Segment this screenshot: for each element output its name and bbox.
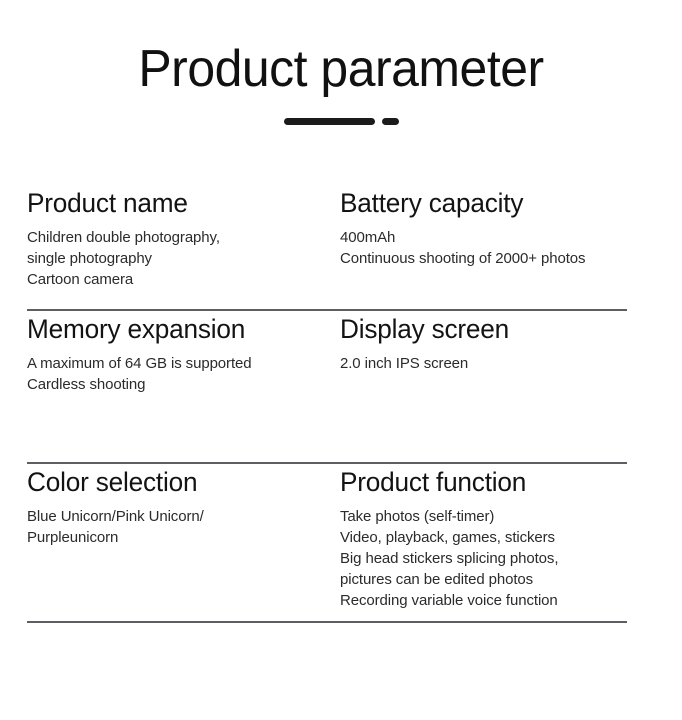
spec-row: Color selection Blue Unicorn/Pink Unicor… xyxy=(0,465,682,661)
spec-value-line: Purpleunicorn xyxy=(27,527,340,548)
spec-label: Display screen xyxy=(340,312,631,346)
spec-value-list: Blue Unicorn/Pink Unicorn/ Purpleunicorn xyxy=(27,506,340,548)
spec-table: Product name Children double photography… xyxy=(0,186,682,661)
spec-value-line: Children double photography, xyxy=(27,227,340,248)
row-divider xyxy=(27,462,627,464)
spec-value-list: Take photos (self-timer) Video, playback… xyxy=(340,506,640,611)
spec-label: Product function xyxy=(340,465,631,499)
page-title: Product parameter xyxy=(14,38,669,100)
spec-row: Product name Children double photography… xyxy=(0,186,682,312)
page-header: Product parameter xyxy=(0,38,682,125)
spec-value-line: pictures can be edited photos xyxy=(340,569,640,590)
spec-cell-product-function: Product function Take photos (self-timer… xyxy=(340,465,640,661)
title-divider-long-bar xyxy=(284,118,375,125)
spec-value-line: 2.0 inch IPS screen xyxy=(340,353,640,374)
spec-value-line: Cardless shooting xyxy=(27,374,340,395)
spec-label: Color selection xyxy=(27,465,331,499)
spec-label: Memory expansion xyxy=(27,312,331,346)
spec-value-line: Take photos (self-timer) xyxy=(340,506,640,527)
spec-value-line: 400mAh xyxy=(340,227,640,248)
product-parameter-page: Product parameter Product name Children … xyxy=(0,0,682,720)
spec-value-line: Big head stickers splicing photos, xyxy=(340,548,640,569)
spec-row: Memory expansion A maximum of 64 GB is s… xyxy=(0,312,682,465)
row-divider xyxy=(27,621,627,623)
spec-value-list: 2.0 inch IPS screen xyxy=(340,353,640,374)
spec-cell-product-name: Product name Children double photography… xyxy=(27,186,340,312)
title-divider-short-bar xyxy=(382,118,399,125)
spec-value-line: single photography xyxy=(27,248,340,269)
spec-value-list: Children double photography, single phot… xyxy=(27,227,340,290)
spec-value-line: Video, playback, games, stickers xyxy=(340,527,640,548)
title-divider xyxy=(0,118,682,125)
spec-value-line: A maximum of 64 GB is supported xyxy=(27,353,340,374)
spec-value-line: Blue Unicorn/Pink Unicorn/ xyxy=(27,506,340,527)
spec-value-line: Recording variable voice function xyxy=(340,590,640,611)
spec-cell-memory-expansion: Memory expansion A maximum of 64 GB is s… xyxy=(27,312,340,465)
spec-label: Battery capacity xyxy=(340,186,631,220)
spec-cell-display-screen: Display screen 2.0 inch IPS screen xyxy=(340,312,640,465)
spec-cell-color-selection: Color selection Blue Unicorn/Pink Unicor… xyxy=(27,465,340,661)
spec-label: Product name xyxy=(27,186,331,220)
spec-value-list: 400mAh Continuous shooting of 2000+ phot… xyxy=(340,227,640,269)
spec-value-list: A maximum of 64 GB is supported Cardless… xyxy=(27,353,340,395)
spec-value-line: Cartoon camera xyxy=(27,269,340,290)
spec-value-line: Continuous shooting of 2000+ photos xyxy=(340,248,640,269)
row-divider xyxy=(27,309,627,311)
spec-cell-battery-capacity: Battery capacity 400mAh Continuous shoot… xyxy=(340,186,640,312)
